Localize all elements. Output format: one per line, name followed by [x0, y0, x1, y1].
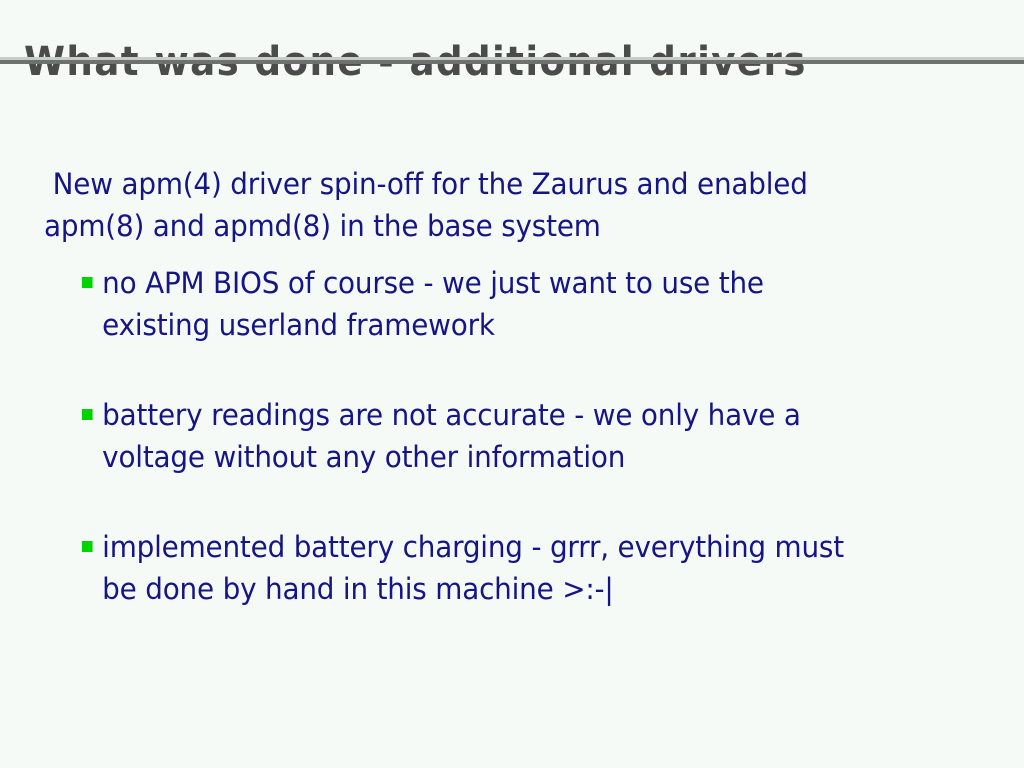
list-item-label: implemented battery charging - grrr, eve… [102, 526, 870, 610]
list-item: implemented battery charging - grrr, eve… [82, 526, 927, 610]
list-item: battery readings are not accurate - we o… [82, 394, 927, 478]
bullet-list: no APM BIOS of course - we just want to … [82, 262, 962, 610]
presentation-slide: What was done - additional drivers New a… [0, 0, 1024, 768]
list-item-label: no APM BIOS of course - we just want to … [102, 262, 870, 346]
title-divider [0, 57, 1024, 64]
square-bullet-icon [82, 541, 93, 552]
slide-body: New apm(4) driver spin-off for the Zauru… [0, 64, 1024, 768]
square-bullet-icon [82, 409, 93, 420]
list-item-label: battery readings are not accurate - we o… [102, 394, 870, 478]
list-item: no APM BIOS of course - we just want to … [82, 262, 927, 346]
square-bullet-icon [82, 277, 93, 288]
lead-paragraph: New apm(4) driver spin-off for the Zauru… [44, 163, 908, 247]
